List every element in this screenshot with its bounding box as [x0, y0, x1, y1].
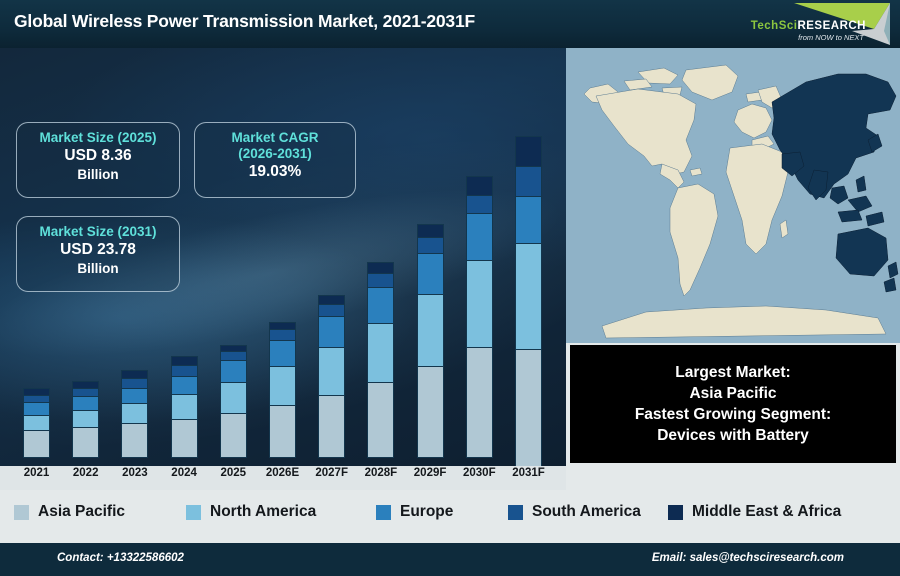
bar-segment-south-america	[72, 388, 99, 396]
bar-segment-middle-east-africa	[23, 388, 50, 395]
fastest-segment-label: Fastest Growing Segment:	[635, 404, 831, 425]
infographic-root: Global Wireless Power Transmission Marke…	[0, 0, 900, 576]
techsci-logo: TechSciRESEARCH from NOW to NEXT	[708, 0, 894, 48]
bar-segment-europe	[466, 213, 493, 260]
bar-2022	[72, 381, 99, 458]
stacked-bar-chart	[0, 48, 566, 466]
bar-segment-asia-pacific	[72, 427, 99, 458]
logo-research-text: RESEARCH	[797, 20, 866, 32]
x-axis-tick-2024: 2024	[160, 467, 208, 479]
bar-segment-north-america	[515, 243, 542, 349]
bar-segment-middle-east-africa	[417, 224, 444, 238]
legend-item-south-america[interactable]: South America	[508, 503, 641, 521]
legend-label: South America	[532, 503, 641, 521]
bar-segment-north-america	[220, 382, 247, 413]
x-axis-tick-2029F: 2029F	[406, 467, 454, 479]
bar-segment-middle-east-africa	[121, 370, 148, 378]
bar-segment-middle-east-africa	[171, 356, 198, 365]
bar-segment-middle-east-africa	[367, 262, 394, 273]
legend-swatch-icon	[14, 505, 29, 520]
largest-market-value: Asia Pacific	[689, 383, 776, 404]
bar-2028F	[367, 262, 394, 458]
bar-segment-asia-pacific	[121, 423, 148, 458]
bar-segment-north-america	[269, 366, 296, 405]
bar-2030F	[466, 176, 493, 458]
bar-segment-north-america	[171, 394, 198, 419]
key-findings-callout: Largest Market: Asia Pacific Fastest Gro…	[570, 345, 896, 463]
bar-2031F	[515, 136, 542, 458]
legend-label: Asia Pacific	[38, 503, 125, 521]
bar-segment-north-america	[466, 260, 493, 347]
largest-market-label: Largest Market:	[675, 362, 790, 383]
x-axis-tick-2030F: 2030F	[455, 467, 503, 479]
bar-segment-asia-pacific	[23, 430, 50, 458]
bar-segment-europe	[220, 360, 247, 382]
legend-item-asia-pacific[interactable]: Asia Pacific	[14, 503, 125, 521]
legend-label: Middle East & Africa	[692, 503, 841, 521]
chart-legend: Asia PacificNorth AmericaEuropeSouth Ame…	[0, 490, 900, 532]
bar-segment-north-america	[417, 294, 444, 366]
bar-segment-europe	[318, 316, 345, 346]
logo-tagline: from NOW to NEXT	[798, 33, 864, 42]
bar-segment-asia-pacific	[367, 382, 394, 458]
bar-segment-middle-east-africa	[269, 322, 296, 329]
bar-segment-south-america	[318, 304, 345, 317]
bar-segment-south-america	[466, 195, 493, 213]
x-axis: 202120222023202420252026E2027F2028F2029F…	[0, 466, 566, 490]
bar-segment-europe	[171, 376, 198, 394]
bar-segment-europe	[417, 253, 444, 294]
bar-2023	[121, 370, 148, 458]
bar-2026E	[269, 322, 296, 458]
world-map-svg	[566, 48, 900, 343]
bar-segment-europe	[23, 402, 50, 414]
footer-contact: Contact: +13322586602	[57, 552, 184, 564]
bar-2025	[220, 345, 247, 458]
bar-segment-north-america	[318, 347, 345, 395]
bar-segment-middle-east-africa	[318, 295, 345, 304]
bar-segment-europe	[515, 196, 542, 243]
fastest-segment-value: Devices with Battery	[657, 425, 809, 446]
bar-2024	[171, 356, 198, 458]
bar-segment-europe	[72, 396, 99, 410]
bar-segment-asia-pacific	[515, 349, 542, 466]
footer-email: Email: sales@techsciresearch.com	[652, 552, 844, 564]
legend-item-north-america[interactable]: North America	[186, 503, 316, 521]
x-axis-tick-2026E: 2026E	[259, 467, 307, 479]
bar-segment-asia-pacific	[171, 419, 198, 458]
x-axis-tick-2023: 2023	[111, 467, 159, 479]
x-axis-tick-2022: 2022	[62, 467, 110, 479]
bar-segment-europe	[121, 388, 148, 404]
bar-segment-asia-pacific	[417, 366, 444, 458]
chart-panel: Market Size (2025) USD 8.36 Billion Mark…	[0, 48, 566, 466]
bar-segment-asia-pacific	[269, 405, 296, 458]
logo-wordmark: TechSciRESEARCH	[751, 20, 866, 32]
bar-segment-middle-east-africa	[466, 176, 493, 195]
page-title: Global Wireless Power Transmission Marke…	[14, 11, 475, 32]
bar-segment-south-america	[269, 329, 296, 340]
bar-segment-south-america	[220, 351, 247, 360]
legend-label: Europe	[400, 503, 453, 521]
bar-segment-north-america	[367, 323, 394, 382]
bar-segment-south-america	[367, 273, 394, 287]
legend-swatch-icon	[186, 505, 201, 520]
bar-segment-south-america	[515, 166, 542, 195]
bar-segment-south-america	[121, 378, 148, 387]
bar-segment-europe	[269, 340, 296, 366]
legend-swatch-icon	[376, 505, 391, 520]
x-axis-tick-2027F: 2027F	[308, 467, 356, 479]
bar-segment-south-america	[171, 365, 198, 376]
bar-2029F	[417, 224, 444, 458]
bar-segment-europe	[367, 287, 394, 323]
bar-2027F	[318, 295, 345, 458]
x-axis-tick-2025: 2025	[209, 467, 257, 479]
bar-segment-north-america	[23, 415, 50, 430]
bar-segment-south-america	[23, 395, 50, 402]
legend-item-middle-east-africa[interactable]: Middle East & Africa	[668, 503, 841, 521]
bar-segment-asia-pacific	[220, 413, 247, 458]
bar-segment-north-america	[121, 403, 148, 423]
bar-segment-north-america	[72, 410, 99, 427]
bar-segment-asia-pacific	[466, 347, 493, 458]
legend-swatch-icon	[668, 505, 683, 520]
footer-bar: Contact: +13322586602 Email: sales@techs…	[0, 543, 900, 576]
bar-segment-asia-pacific	[318, 395, 345, 458]
bar-2021	[23, 388, 50, 458]
x-axis-tick-2021: 2021	[13, 467, 61, 479]
x-axis-tick-2031F: 2031F	[505, 467, 553, 479]
bar-segment-middle-east-africa	[515, 136, 542, 166]
legend-item-europe[interactable]: Europe	[376, 503, 453, 521]
logo-tech-text: TechSci	[751, 20, 798, 32]
legend-label: North America	[210, 503, 316, 521]
x-axis-tick-2028F: 2028F	[357, 467, 405, 479]
world-map	[566, 48, 900, 343]
legend-swatch-icon	[508, 505, 523, 520]
header-bar: Global Wireless Power Transmission Marke…	[0, 0, 900, 48]
bar-segment-middle-east-africa	[72, 381, 99, 388]
bar-segment-south-america	[417, 237, 444, 253]
